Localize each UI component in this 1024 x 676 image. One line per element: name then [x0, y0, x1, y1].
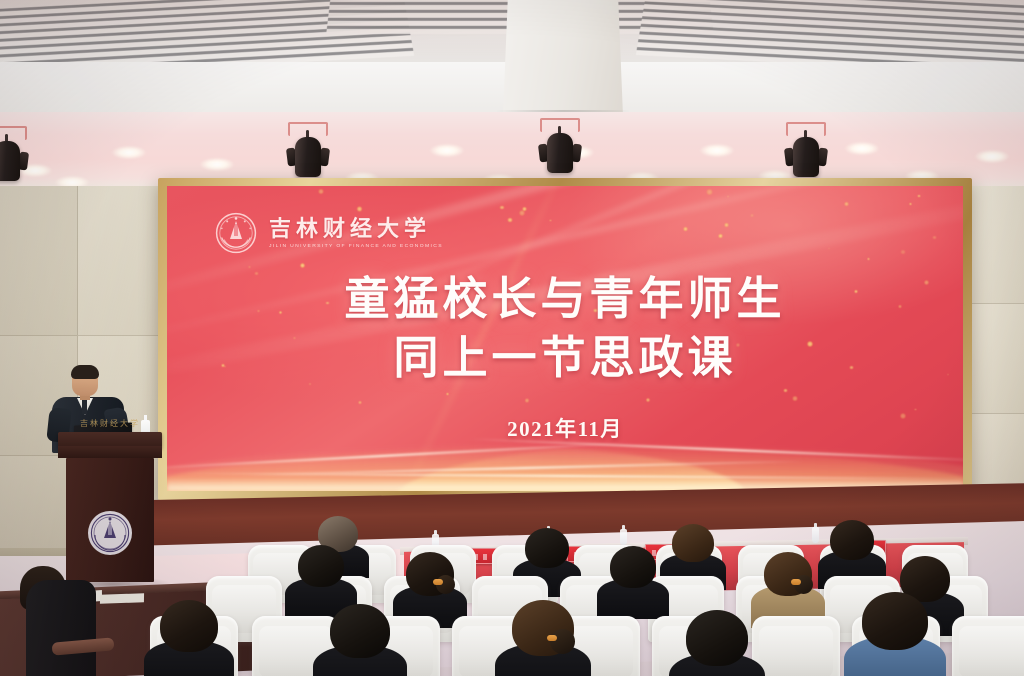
foreground-paper: [100, 593, 144, 604]
speaker-tie: [82, 400, 87, 414]
stage-spotlight-2: [537, 118, 583, 180]
ceiling-downlight: [975, 150, 1009, 163]
ceiling-downlight: [700, 144, 734, 157]
audience-seat: [752, 616, 840, 676]
audience-member-head: [686, 610, 748, 666]
foreground-person-body: [26, 580, 96, 676]
audience-member-head: [160, 600, 218, 652]
audience-member: [686, 610, 748, 676]
audience-member-head: [672, 524, 714, 562]
ceiling-downlight: [200, 158, 234, 171]
university-logo-text: 吉林财经大学 JILIN UNIVERSITY OF FINANCE AND E…: [269, 217, 443, 249]
audience-member-hair-tie: [433, 579, 443, 585]
table-water-bottle: [620, 529, 627, 545]
led-screen: 吉林财经大学 JILIN UNIVERSITY OF FINANCE AND E…: [167, 186, 963, 491]
stage-spotlight-3: [783, 122, 829, 184]
audience-seat: [952, 616, 1024, 676]
screen-title-line-1: 童猛校长与青年师生: [167, 270, 963, 329]
ceiling-downlight: [430, 144, 464, 157]
spotlight-body: [793, 137, 819, 177]
screen-title-line-2: 同上一节思政课: [167, 329, 963, 388]
audience-member: [160, 600, 218, 676]
university-name-en: JILIN UNIVERSITY OF FINANCE AND ECONOMIC…: [269, 243, 443, 249]
ceiling-drop-soffit: [503, 0, 623, 116]
spotlight-body: [547, 133, 573, 173]
wall-panel: [972, 186, 1024, 304]
lectern-podium: 吉林财经大学: [62, 432, 158, 582]
university-logo: 吉林财经大学 JILIN UNIVERSITY OF FINANCE AND E…: [215, 212, 443, 254]
audience-member-head: [525, 528, 569, 568]
audience-member-hair-bun: [550, 629, 575, 654]
led-screen-frame: 吉林财经大学 JILIN UNIVERSITY OF FINANCE AND E…: [158, 178, 972, 500]
audience-member-head: [862, 592, 928, 650]
stage-spotlight-4: [0, 126, 30, 188]
screen-gold-waves: [167, 391, 963, 491]
podium-top-face: [58, 446, 162, 458]
ceiling-downlight: [112, 146, 146, 159]
audience-member-hair-tie: [547, 635, 557, 641]
audience-member-head: [610, 546, 656, 588]
ceiling-downlight: [845, 142, 879, 155]
audience-member-hair-tie: [791, 579, 801, 585]
spotlight-body: [0, 141, 20, 181]
spotlight-body: [295, 137, 321, 177]
podium-body: [66, 458, 154, 582]
audience-member-head: [330, 604, 390, 658]
audience-member: [862, 592, 928, 676]
university-seal-icon: [87, 510, 133, 556]
university-name-cn: 吉林财经大学: [269, 217, 443, 240]
university-seal-icon: [215, 212, 257, 254]
audience-member-head: [298, 545, 344, 587]
audience-member: [512, 600, 574, 676]
auditorium-scene: 吉林财经大学 JILIN UNIVERSITY OF FINANCE AND E…: [0, 0, 1024, 676]
table-water-bottle: [812, 527, 819, 543]
wall-panel: [972, 304, 1024, 414]
audience-member-head: [830, 520, 874, 560]
speaker-hair: [71, 365, 99, 379]
podium-name-plate: 吉林财经大学: [62, 418, 158, 429]
stage-spotlight-1: [285, 122, 331, 184]
audience-member: [330, 604, 390, 676]
